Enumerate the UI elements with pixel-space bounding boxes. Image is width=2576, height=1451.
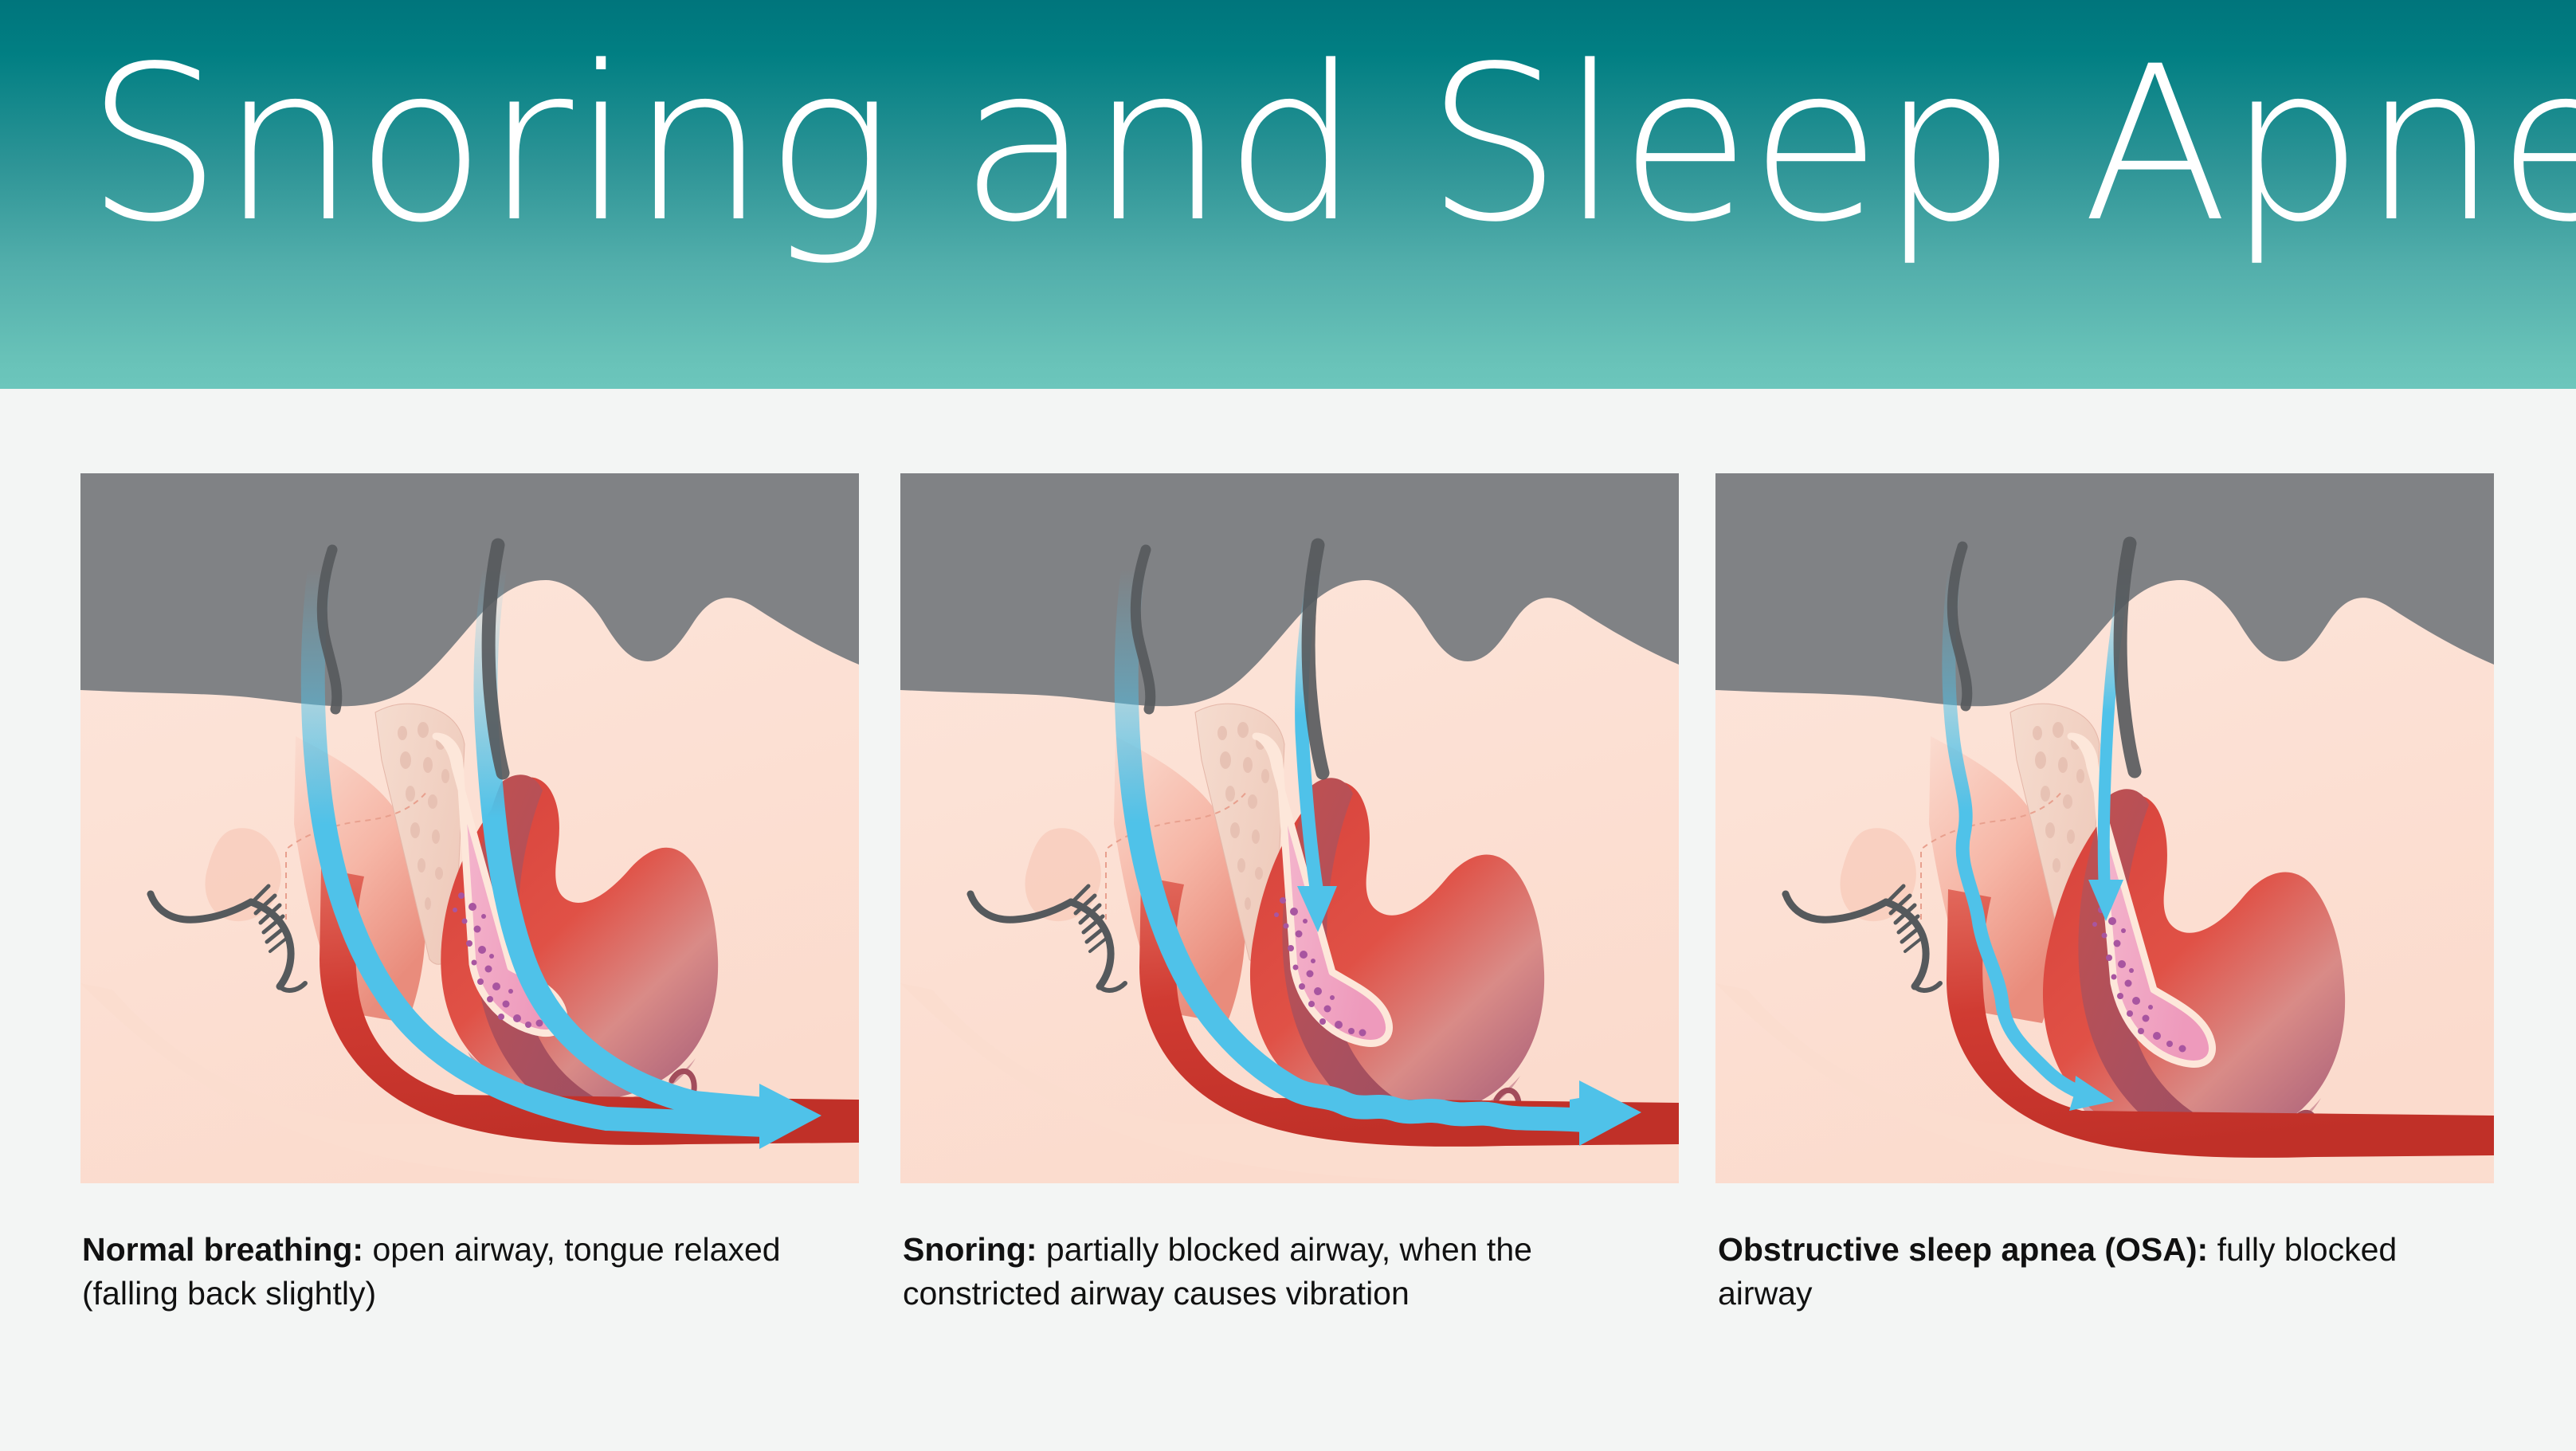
caption-snoring: Snoring: partially blocked airway, when …: [903, 1228, 1668, 1315]
caption-lead: Obstructive sleep apnea (OSA):: [1718, 1231, 2208, 1268]
caption-normal-breathing: Normal breathing: open airway, tongue re…: [82, 1228, 847, 1315]
obstructive-sleep-apnea-illustration: [1715, 473, 2494, 1183]
caption-lead: Snoring:: [903, 1231, 1037, 1268]
snoring-illustration: [900, 473, 1679, 1183]
panel-snoring: [900, 473, 1679, 1183]
panel-normal-breathing: [80, 473, 859, 1183]
caption-obstructive-sleep-apnea: Obstructive sleep apnea (OSA): fully blo…: [1718, 1228, 2483, 1315]
normal-breathing-illustration: [80, 473, 859, 1183]
panel-obstructive-sleep-apnea: [1715, 473, 2494, 1183]
caption-lead: Normal breathing:: [82, 1231, 363, 1268]
